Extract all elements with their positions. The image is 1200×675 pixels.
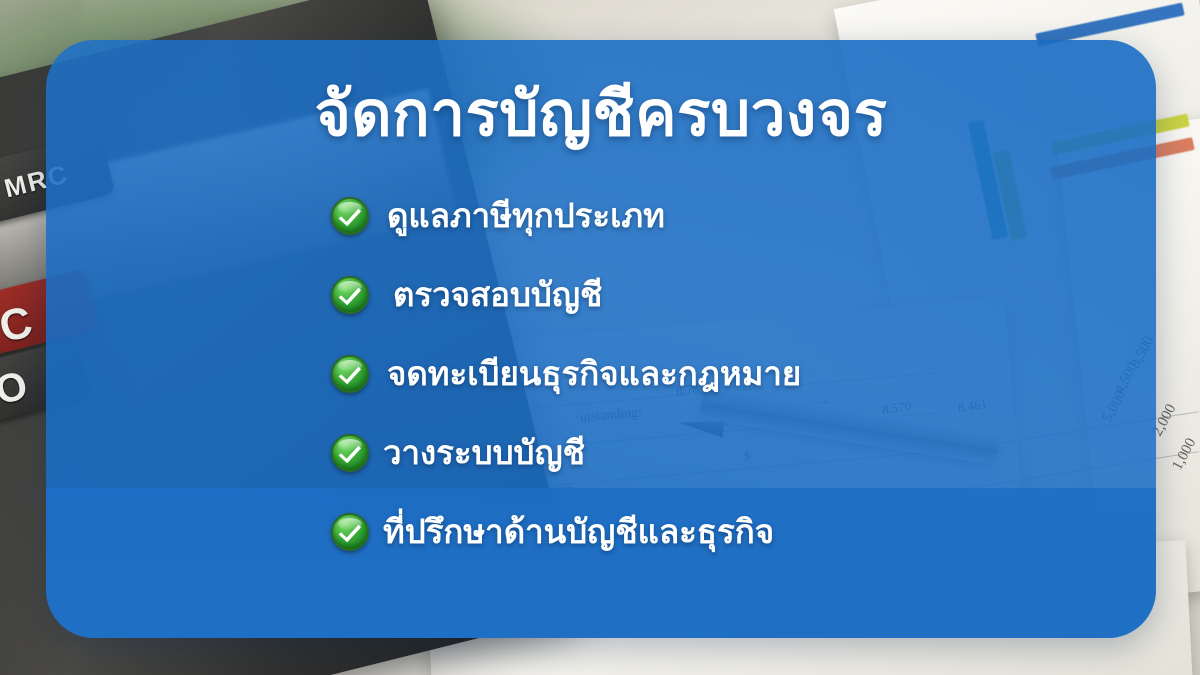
green-check-circle-icon bbox=[331, 513, 369, 551]
green-check-circle-icon bbox=[331, 355, 369, 393]
list-item-label: ดูแลภาษีทุกประเภท bbox=[387, 189, 665, 242]
green-check-circle-icon bbox=[331, 197, 369, 235]
panel-content: จัดการบัญชีครบวงจร ดูแลภาษีทุกประเภท ตรว… bbox=[46, 40, 1156, 638]
list-item[interactable]: วางระบบบัญชี bbox=[331, 413, 801, 492]
poster-canvas: Earnings per share: utstanding: Weighted… bbox=[0, 0, 1200, 675]
list-item[interactable]: ตรวจสอบบัญชี bbox=[331, 255, 801, 334]
page-title: จัดการบัญชีครบวงจร bbox=[46, 82, 1156, 147]
green-check-circle-icon bbox=[331, 276, 369, 314]
list-item-label: จดทะเบียนธุรกิจและกฎหมาย bbox=[387, 347, 801, 400]
list-item-label: ที่ปรึกษาด้านบัญชีและธุรกิจ bbox=[383, 505, 774, 558]
list-item[interactable]: ที่ปรึกษาด้านบัญชีและธุรกิจ bbox=[331, 492, 801, 571]
list-item-label: ตรวจสอบบัญชี bbox=[393, 268, 602, 321]
list-item-label: วางระบบบัญชี bbox=[383, 426, 585, 479]
green-check-circle-icon bbox=[331, 434, 369, 472]
feature-list: ดูแลภาษีทุกประเภท ตรวจสอบบัญชี จดทะเบียน… bbox=[331, 176, 801, 571]
list-item[interactable]: จดทะเบียนธุรกิจและกฎหมาย bbox=[331, 334, 801, 413]
list-item[interactable]: ดูแลภาษีทุกประเภท bbox=[331, 176, 801, 255]
